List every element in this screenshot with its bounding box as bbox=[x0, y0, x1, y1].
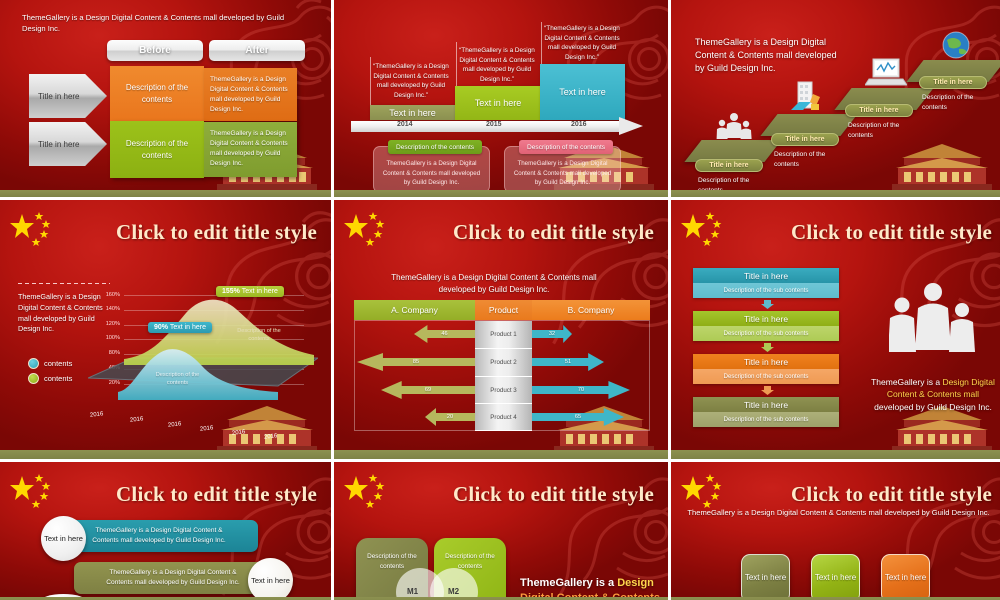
series-2-inline-label: Description of the contents bbox=[230, 328, 288, 344]
y-tick-160: 160% bbox=[98, 292, 120, 298]
china-flag-stars-icon bbox=[342, 208, 400, 252]
tab-after[interactable]: After bbox=[209, 40, 305, 61]
row-1-after-text: ThemeGallery is a Design Digital Content… bbox=[210, 75, 291, 115]
row-1-title-label: Title in here bbox=[29, 92, 80, 101]
step-2-desc: Description of the contents bbox=[774, 150, 844, 169]
series-1-inline-label: Description of the contents bbox=[150, 372, 205, 388]
timeline-card-2-tag: Description of the contents bbox=[519, 140, 613, 154]
slide3-lead-text: ThemeGallery is a Design Digital Content… bbox=[695, 36, 845, 75]
slide-before-after[interactable]: ThemeGallery is a Design Digital Content… bbox=[0, 0, 331, 197]
step-4-desc: Description of the contents bbox=[922, 93, 992, 112]
step-2-label[interactable]: Title in here bbox=[771, 133, 839, 146]
flow-card-4[interactable]: Title in here Description of the sub con… bbox=[693, 397, 839, 427]
timeline-bar-3-label: Text in here bbox=[559, 87, 606, 97]
slide8-text-part-1: ThemeGallery is a bbox=[520, 577, 617, 589]
slide-thumbnail-grid: ThemeGallery is a Design Digital Content… bbox=[0, 0, 1000, 600]
slide-stacked-titles[interactable]: Click to edit title style Title in here … bbox=[671, 200, 1000, 459]
page-title: Click to edit title style bbox=[791, 482, 992, 507]
timeline-bar-2[interactable]: Text in here bbox=[455, 86, 541, 120]
callout-155-value: 155% bbox=[222, 288, 240, 295]
timeline-card-2[interactable]: Description of the contents ThemeGallery… bbox=[504, 146, 621, 193]
tab-before-label: Before bbox=[139, 45, 171, 56]
step-4-label[interactable]: Title in here bbox=[919, 76, 987, 89]
row-2-after-block[interactable]: ThemeGallery is a Design Digital Content… bbox=[204, 122, 297, 177]
flow-card-2[interactable]: Title in here Description of the sub con… bbox=[693, 311, 839, 341]
slide6-text-part-1: ThemeGallery is a bbox=[871, 377, 942, 387]
step-1-label[interactable]: Title in here bbox=[695, 159, 763, 172]
x-tick-6: 2016 bbox=[264, 433, 278, 440]
flow-arrow-1 bbox=[761, 300, 774, 309]
slide-timeline[interactable]: “ThemeGallery is a Design Digital Conten… bbox=[334, 0, 668, 197]
slide-venn[interactable]: Click to edit title style Description of… bbox=[334, 462, 668, 600]
timeline-card-1-tag: Description of the contents bbox=[388, 140, 482, 154]
row-2-title-label: Title in here bbox=[29, 140, 80, 149]
step-3-desc: Description of the contents bbox=[848, 121, 918, 140]
tab-after-label: After bbox=[245, 45, 268, 56]
timeline-quote-3: “ThemeGallery is a Design Digital Conten… bbox=[540, 24, 624, 62]
text-box-1[interactable]: Text in here bbox=[741, 554, 790, 600]
slide-bottom-band bbox=[0, 190, 331, 197]
y-tick-140: 140% bbox=[98, 306, 120, 312]
page-title: Click to edit title style bbox=[116, 482, 317, 507]
product-cell-1[interactable]: Product 1 bbox=[475, 321, 532, 349]
laptop-icon bbox=[865, 55, 907, 89]
info-circle-1[interactable]: Text in here bbox=[41, 516, 86, 561]
row-1-before-block[interactable]: Description of the contents bbox=[110, 66, 204, 121]
product-cell-4[interactable]: Product 4 bbox=[475, 404, 532, 431]
page-title: Click to edit title style bbox=[791, 220, 992, 245]
tiananmen-gate-icon bbox=[207, 400, 327, 452]
info-bar-1[interactable]: ThemeGallery is a Design Digital Content… bbox=[60, 520, 258, 552]
venn-marker-m2: M2 bbox=[448, 587, 459, 596]
timeline-year-1: 2014 bbox=[397, 121, 413, 128]
legend-item-2[interactable]: contents bbox=[28, 373, 72, 384]
area-series-1 bbox=[118, 340, 278, 400]
page-title: Click to edit title style bbox=[116, 220, 317, 245]
product-cell-3[interactable]: Product 3 bbox=[475, 377, 532, 404]
x-tick-3: 2016 bbox=[168, 421, 182, 428]
legend-label-2: contents bbox=[44, 374, 72, 383]
table-lead-text: ThemeGallery is a Design Digital Content… bbox=[384, 272, 604, 296]
table-header-b: B. Company bbox=[532, 300, 650, 320]
info-bar-2[interactable]: ThemeGallery is a Design Digital Content… bbox=[74, 562, 272, 594]
slide-compare-table[interactable]: Click to edit title style ThemeGallery i… bbox=[334, 200, 668, 459]
flow-card-1[interactable]: Title in here Description of the sub con… bbox=[693, 268, 839, 298]
slide-bottom-band bbox=[0, 450, 331, 459]
slide-area-chart[interactable]: Click to edit title style ThemeGallery i… bbox=[0, 200, 331, 459]
flow-card-2-desc: Description of the sub contents bbox=[693, 326, 839, 341]
x-tick-4: 2016 bbox=[200, 425, 214, 432]
china-flag-stars-icon bbox=[679, 208, 737, 252]
slide-steps[interactable]: ThemeGallery is a Design Digital Content… bbox=[671, 0, 1000, 197]
people-group-icon bbox=[889, 280, 977, 360]
row-1-after-block[interactable]: ThemeGallery is a Design Digital Content… bbox=[204, 68, 297, 121]
x-tick-1: 2016 bbox=[90, 411, 104, 418]
china-flag-stars-icon bbox=[8, 470, 66, 514]
flow-card-3[interactable]: Title in here Description of the sub con… bbox=[693, 354, 839, 384]
callout-90-value: 90% bbox=[154, 324, 168, 331]
slide-bottom-band bbox=[671, 190, 1000, 197]
step-3-label[interactable]: Title in here bbox=[845, 104, 913, 117]
slide-bars-circles[interactable]: Click to edit title style ThemeGallery i… bbox=[0, 462, 331, 600]
flow-card-1-title: Title in here bbox=[693, 268, 839, 283]
legend-label-1: contents bbox=[44, 359, 72, 368]
flow-card-2-title: Title in here bbox=[693, 311, 839, 326]
tab-before[interactable]: Before bbox=[107, 40, 203, 61]
row-2-before-text: Description of the contents bbox=[116, 138, 198, 160]
timeline-year-3: 2016 bbox=[571, 121, 587, 128]
row-1-before-text: Description of the contents bbox=[116, 82, 198, 104]
x-tick-5: 2016 bbox=[232, 429, 246, 436]
timeline-card-2-body: ThemeGallery is a Design Digital Content… bbox=[505, 147, 620, 194]
slide-three-boxes[interactable]: Click to edit title style ThemeGallery i… bbox=[671, 462, 1000, 600]
callout-90[interactable]: 90% Text in here bbox=[148, 322, 212, 333]
timeline-card-1[interactable]: Description of the contents ThemeGallery… bbox=[373, 146, 490, 193]
legend-dot-green bbox=[28, 373, 39, 384]
buildings-icon bbox=[789, 80, 829, 118]
callout-155-text: Text in here bbox=[242, 288, 278, 295]
timeline-year-2: 2015 bbox=[486, 121, 502, 128]
row-2-after-text: ThemeGallery is a Design Digital Content… bbox=[210, 129, 291, 169]
text-box-3[interactable]: Text in here bbox=[881, 554, 930, 600]
venn-marker-m1: M1 bbox=[407, 587, 418, 596]
info-circle-1-label: Text in here bbox=[44, 534, 83, 544]
page-title: Click to edit title style bbox=[453, 482, 654, 507]
flow-card-4-desc: Description of the sub contents bbox=[693, 412, 839, 427]
x-tick-2: 2016 bbox=[130, 416, 144, 423]
slide8-text-part-2: Design bbox=[617, 577, 654, 589]
china-flag-stars-icon bbox=[342, 470, 400, 514]
text-box-2[interactable]: Text in here bbox=[811, 554, 860, 600]
timeline-quote-1: “ThemeGallery is a Design Digital Conten… bbox=[370, 62, 452, 100]
slide9-lead-text: ThemeGallery is a Design Digital Content… bbox=[671, 507, 1000, 519]
slide-bottom-band bbox=[334, 190, 668, 197]
table-header-a: A. Company bbox=[354, 300, 475, 320]
page-title: Click to edit title style bbox=[453, 220, 654, 245]
legend-dot-teal bbox=[28, 358, 39, 369]
flow-arrow-3 bbox=[761, 386, 774, 395]
timeline-bar-3[interactable]: Text in here bbox=[540, 64, 625, 120]
row-1-title-chevron[interactable]: Title in here bbox=[29, 74, 107, 118]
info-circle-2[interactable]: Text in here bbox=[248, 558, 293, 600]
legend-divider bbox=[18, 283, 110, 284]
timeline-quote-2: “ThemeGallery is a Design Digital Conten… bbox=[455, 46, 539, 84]
people-group-icon bbox=[716, 112, 752, 142]
flow-card-1-desc: Description of the sub contents bbox=[693, 283, 839, 298]
globe-icon bbox=[941, 30, 971, 60]
flow-card-3-title: Title in here bbox=[693, 354, 839, 369]
callout-155[interactable]: 155% Text in here bbox=[216, 286, 284, 297]
slide6-text-part-3: developed by Guild Design Inc. bbox=[874, 402, 992, 412]
timeline-bar-1-label: Text in here bbox=[389, 108, 436, 118]
timeline-bar-2-label: Text in here bbox=[475, 98, 522, 108]
slide6-side-text: ThemeGallery is a Design Digital Content… bbox=[869, 376, 997, 413]
table-header-product: Product bbox=[475, 300, 532, 320]
flow-card-3-desc: Description of the sub contents bbox=[693, 369, 839, 384]
callout-90-text: Text in here bbox=[170, 324, 206, 331]
tiananmen-gate-icon bbox=[882, 138, 1000, 190]
legend-item-1[interactable]: contents bbox=[28, 358, 72, 369]
china-flag-stars-icon bbox=[8, 208, 66, 252]
product-cell-2[interactable]: Product 2 bbox=[475, 349, 532, 377]
slide-bottom-band bbox=[671, 450, 1000, 459]
flow-card-4-title: Title in here bbox=[693, 397, 839, 412]
slide-bottom-band bbox=[334, 450, 668, 459]
flow-arrow-2 bbox=[761, 343, 774, 352]
info-circle-2-label: Text in here bbox=[251, 576, 290, 586]
row-2-before-block[interactable]: Description of the contents bbox=[110, 121, 204, 178]
venn-box-2-label: Description of the contents bbox=[434, 552, 506, 571]
row-2-title-chevron[interactable]: Title in here bbox=[29, 122, 107, 166]
timeline-card-1-body: ThemeGallery is a Design Digital Content… bbox=[374, 147, 489, 194]
slide1-lead-text: ThemeGallery is a Design Digital Content… bbox=[22, 12, 302, 35]
